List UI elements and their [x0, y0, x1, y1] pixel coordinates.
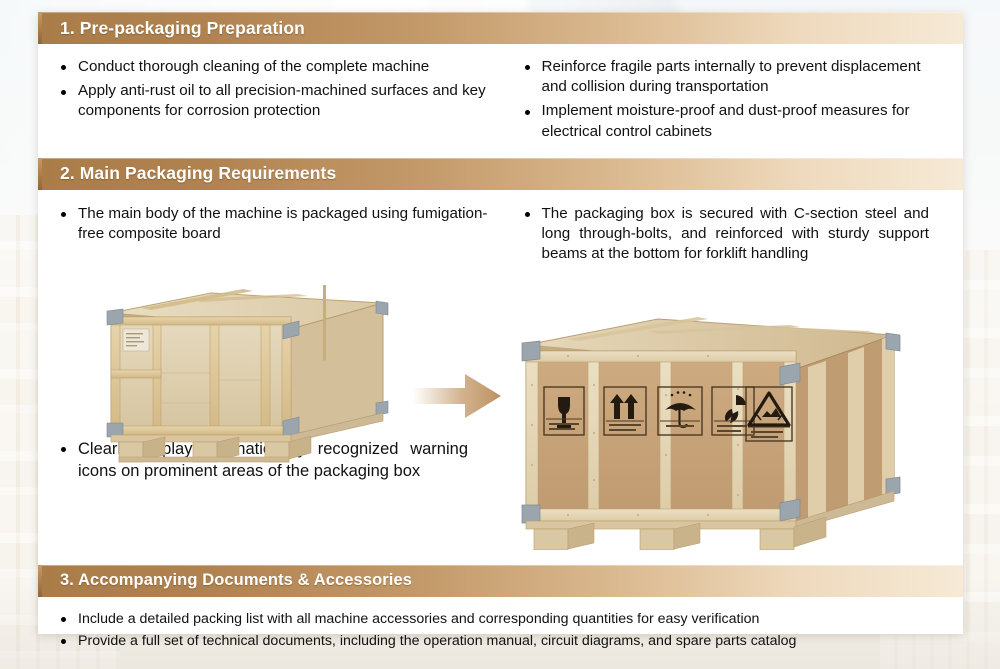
- slide-root: 1. Pre-packaging Preparation Conduct tho…: [0, 0, 1000, 669]
- list-item: Provide a full set of technical document…: [56, 631, 947, 652]
- arrow-figure: [413, 368, 503, 424]
- marked-crate-illustration: [508, 315, 908, 550]
- list-item: The packaging box is secured with C-sect…: [520, 204, 948, 265]
- header-edge-accent: [38, 12, 42, 44]
- section-title-1: 1. Pre-packaging Preparation: [38, 18, 305, 39]
- section-body-1: Conduct thorough cleaning of the complet…: [38, 44, 963, 158]
- marked-crate-figure: [508, 315, 908, 550]
- content-panel: 1. Pre-packaging Preparation Conduct tho…: [38, 12, 963, 634]
- section-title-2: 2. Main Packaging Requirements: [38, 163, 336, 184]
- header-edge-accent: [38, 158, 42, 190]
- section-1-right-column: Reinforce fragile parts internally to pr…: [502, 57, 948, 146]
- list-item: The main body of the machine is packaged…: [56, 204, 502, 244]
- section-header-1: 1. Pre-packaging Preparation: [38, 12, 963, 44]
- header-edge-accent: [38, 565, 42, 597]
- section-2-left-column: The main body of the machine is packaged…: [56, 204, 502, 268]
- section-2-right-bullet-list: The packaging box is secured with C-sect…: [520, 204, 948, 265]
- transform-arrow-icon: [413, 368, 503, 424]
- section-header-2: 2. Main Packaging Requirements: [38, 158, 963, 190]
- section-title-3: 3. Accompanying Documents & Accessories: [38, 571, 412, 590]
- section-1-right-bullet-list: Reinforce fragile parts internally to pr…: [520, 57, 948, 142]
- section-body-2: The main body of the machine is packaged…: [38, 190, 963, 565]
- list-item: Reinforce fragile parts internally to pr…: [520, 57, 948, 97]
- section-2-top-row: The main body of the machine is packaged…: [38, 190, 963, 268]
- plain-crate-illustration: [93, 285, 393, 465]
- section-body-3: Include a detailed packing list with all…: [38, 597, 963, 664]
- section-header-3: 3. Accompanying Documents & Accessories: [38, 565, 963, 597]
- section-1-left-bullet-list: Conduct thorough cleaning of the complet…: [56, 57, 502, 122]
- plain-crate-figure: [93, 285, 393, 465]
- list-item: Apply anti-rust oil to all precision-mac…: [56, 81, 502, 121]
- section-3-bullet-list: Include a detailed packing list with all…: [56, 609, 947, 652]
- section-2-right-column: The packaging box is secured with C-sect…: [502, 204, 948, 268]
- list-item: Implement moisture-proof and dust-proof …: [520, 101, 948, 141]
- list-item: Include a detailed packing list with all…: [56, 609, 947, 630]
- section-2-left-bullet-list: The main body of the machine is packaged…: [56, 204, 502, 244]
- section-1-left-column: Conduct thorough cleaning of the complet…: [56, 57, 502, 146]
- list-item: Conduct thorough cleaning of the complet…: [56, 57, 502, 77]
